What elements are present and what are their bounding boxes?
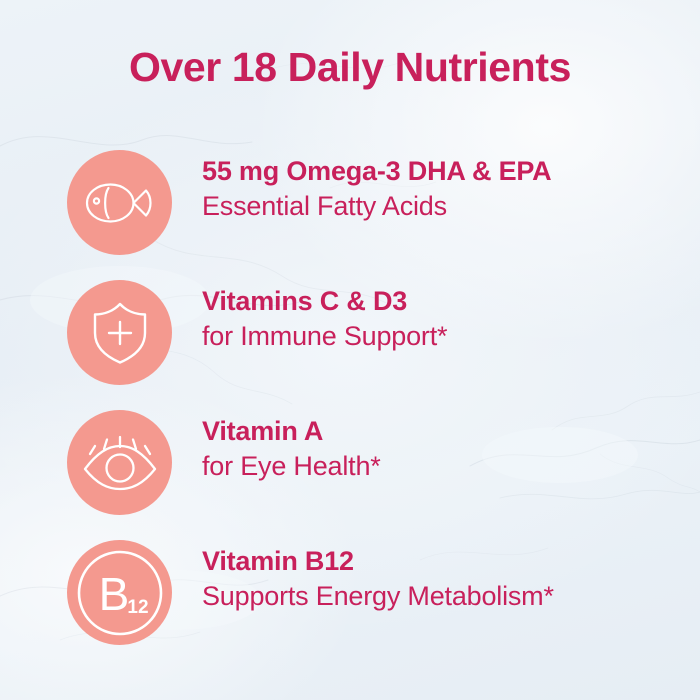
eye-icon (81, 435, 159, 491)
list-item: 55 mg Omega-3 DHA & EPA Essential Fatty … (0, 148, 700, 278)
b12-letter: B (98, 568, 129, 620)
nutrient-title: Vitamin B12 (202, 544, 682, 579)
fish-badge (67, 150, 172, 255)
row-text: 55 mg Omega-3 DHA & EPA Essential Fatty … (202, 154, 682, 224)
shield-plus-icon (91, 301, 149, 365)
row-text: Vitamin B12 Supports Energy Metabolism* (202, 544, 682, 614)
eye-badge (67, 410, 172, 515)
nutrient-title: Vitamins C & D3 (202, 284, 682, 319)
row-text: Vitamins C & D3 for Immune Support* (202, 284, 682, 354)
nutrient-list: 55 mg Omega-3 DHA & EPA Essential Fatty … (0, 148, 700, 668)
nutrient-subtitle: Essential Fatty Acids (202, 189, 682, 224)
fish-icon (83, 178, 157, 228)
nutrient-subtitle: for Immune Support* (202, 319, 682, 354)
list-item: B 12 Vitamin B12 Supports Energy Metabol… (0, 538, 700, 668)
nutrient-subtitle: Supports Energy Metabolism* (202, 579, 682, 614)
b12-circle-icon: B 12 (74, 547, 166, 639)
list-item: Vitamins C & D3 for Immune Support* (0, 278, 700, 408)
row-text: Vitamin A for Eye Health* (202, 414, 682, 484)
list-item: Vitamin A for Eye Health* (0, 408, 700, 538)
b12-badge: B 12 (67, 540, 172, 645)
nutrient-title: 55 mg Omega-3 DHA & EPA (202, 154, 682, 189)
nutrient-title: Vitamin A (202, 414, 682, 449)
page-title: Over 18 Daily Nutrients (0, 45, 700, 90)
nutrient-subtitle: for Eye Health* (202, 449, 682, 484)
shield-badge (67, 280, 172, 385)
nutrient-infographic: Over 18 Daily Nutrients 55 mg Omega-3 DH… (0, 0, 700, 700)
b12-subscript: 12 (127, 597, 148, 618)
